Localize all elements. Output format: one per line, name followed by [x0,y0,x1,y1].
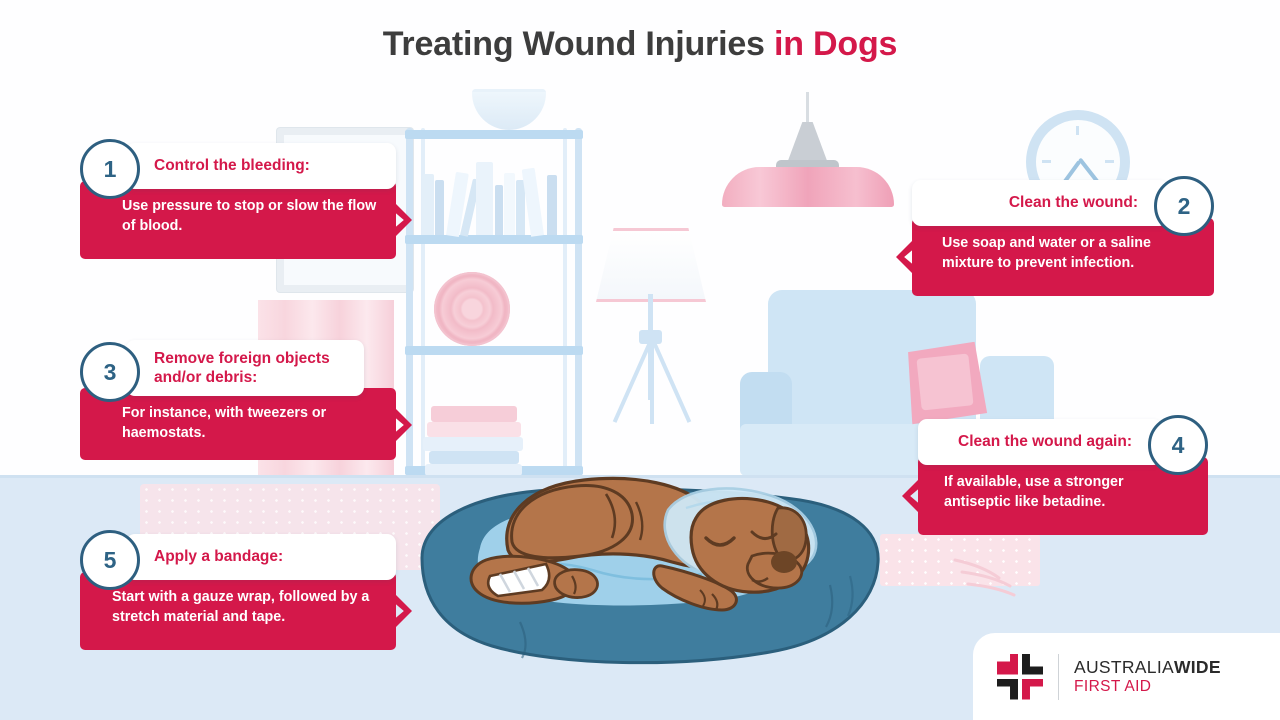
shelf-book [422,174,434,235]
title-main: Treating Wound Injuries [383,25,774,63]
shelf-book [547,175,557,235]
step-3-number-label: 3 [104,359,117,386]
step-1-number: 1 [80,139,140,199]
step-1-number-label: 1 [104,156,117,183]
step-3-number: 3 [80,342,140,402]
shelf-book [522,168,544,237]
step-4-number-label: 4 [1172,432,1185,459]
logo-wide: WIDE [1174,657,1221,677]
step-3-body: For instance, with tweezers or haemostat… [80,388,396,460]
dog-illustration [400,390,910,690]
pendant-lamp-shade [722,167,894,207]
logo-wordmark: AUSTRALIAWIDE FIRST AID [1074,658,1221,695]
floor-lamp-shade [596,228,706,302]
step-card-4[interactable]: Clean the wound again: If available, use… [918,419,1208,535]
shelf-book [476,162,493,235]
clock-tick-12 [1076,126,1079,135]
step-3-header: Remove foreign objects and/or debris: [126,340,364,396]
shelf-book [495,185,503,235]
cross-quadrant-bottom-right [1022,679,1043,700]
bookshelf-board-2 [405,235,583,244]
step-4-header: Clean the wound again: [918,419,1162,465]
page-title: Treating Wound Injuries in Dogs [0,25,1280,64]
step-5-heading: Apply a bandage: [154,547,283,566]
shelf-round-cushion [434,272,510,346]
step-1-detail: Use pressure to stop or slow the flow of… [122,198,376,234]
shelf-book [504,173,515,235]
bookshelf-board-top [405,130,583,139]
title-accent: in Dogs [774,25,897,63]
step-5-number-label: 5 [104,547,117,574]
clock-tick-9 [1042,160,1051,163]
step-3-heading: Remove foreign objects and/or debris: [154,349,350,388]
infographic-canvas: Treating Wound Injuries in Dogs Control … [0,0,1280,720]
step-1-heading: Control the bleeding: [154,156,310,175]
step-2-number-label: 2 [1178,193,1191,220]
step-4-heading: Clean the wound again: [958,432,1132,451]
step-2-number: 2 [1154,176,1214,236]
step-1-header: Control the bleeding: [126,143,396,189]
step-2-heading: Clean the wound: [1009,193,1138,212]
step-5-number: 5 [80,530,140,590]
step-2-detail: Use soap and water or a saline mixture t… [942,235,1151,271]
brand-logo-panel: AUSTRALIAWIDE FIRST AID [973,633,1280,720]
shelf-book [435,180,444,235]
cross-quadrant-top-left [997,654,1018,675]
step-card-3[interactable]: Remove foreign objects and/or debris: Fo… [80,340,364,460]
step-card-5[interactable]: Apply a bandage: Start with a gauze wrap… [80,534,396,650]
logo-line-2: FIRST AID [1074,678,1221,695]
logo-divider [1058,654,1059,700]
logo-line-1: AUSTRALIAWIDE [1074,658,1221,678]
step-3-detail: For instance, with tweezers or haemostat… [122,405,326,441]
step-4-detail: If available, use a stronger antiseptic … [944,474,1124,510]
step-4-number: 4 [1148,415,1208,475]
cross-quadrant-top-right [1022,654,1043,675]
cross-quadrant-bottom-left [997,679,1018,700]
step-5-detail: Start with a gauze wrap, followed by a s… [112,589,369,625]
step-2-header: Clean the wound: [912,180,1168,226]
logo-australia: AUSTRALIA [1074,657,1174,677]
bookshelf-board-3 [405,346,583,355]
step-5-header: Apply a bandage: [126,534,396,580]
step-card-2[interactable]: Clean the wound: Use soap and water or a… [912,180,1214,296]
sofa-throw-pillow-inner [916,353,973,410]
clock-tick-3 [1105,160,1114,163]
step-card-1[interactable]: Control the bleeding: Use pressure to st… [80,143,396,259]
australia-wide-cross-icon [997,654,1043,700]
